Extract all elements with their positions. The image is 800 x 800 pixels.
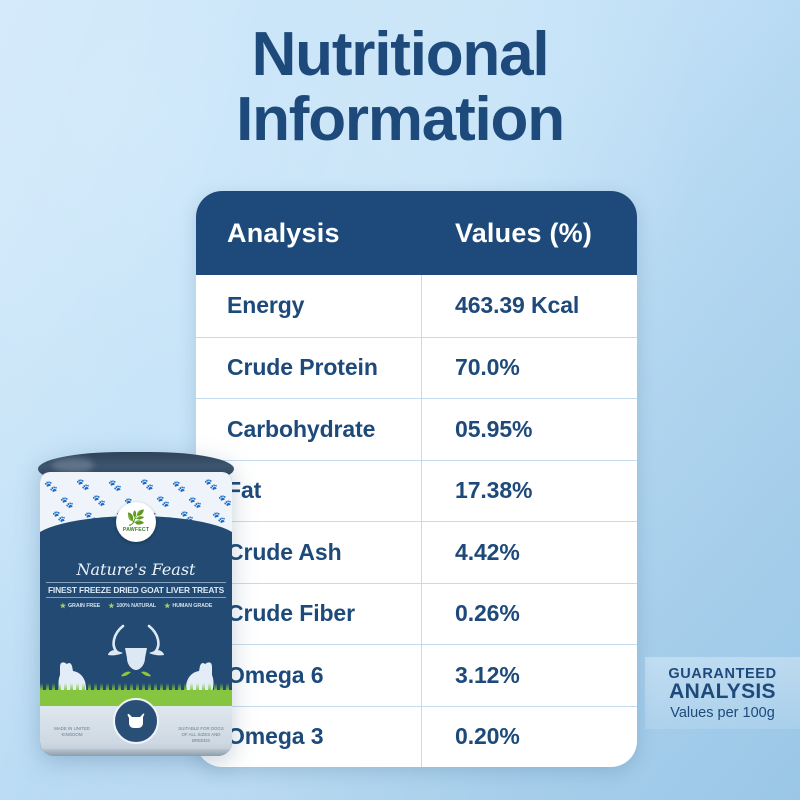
- can-body: 🐾🐾🐾🐾🐾🐾🐾🐾🐾🐾🐾🐾🐾🐾🐾🐾🐾🐾🐾🐾🐾🐾🐾 🌿 PAWFECT Nature…: [40, 472, 232, 756]
- table-row: Omega 63.12%: [196, 644, 637, 706]
- page-title: Nutritional Information: [0, 22, 800, 152]
- paw-print-icon: 🐾: [188, 498, 202, 509]
- cell-value: 0.26%: [421, 600, 637, 627]
- claim-badge: ★100% NATURAL: [108, 602, 156, 610]
- cell-value: 463.39 Kcal: [421, 292, 637, 319]
- paw-print-icon: 🐾: [156, 497, 170, 508]
- goat-head-icon: [101, 622, 171, 683]
- claim-label: HUMAN GRADE: [172, 603, 212, 609]
- table-header-row: Analysis Values (%): [196, 191, 637, 275]
- nutrition-table: Analysis Values (%) Energy463.39 KcalCru…: [196, 191, 637, 767]
- cell-analysis: Carbohydrate: [196, 416, 421, 443]
- logo-text: PAWFECT: [123, 527, 149, 533]
- leaf-icon: 🌿: [127, 511, 146, 526]
- paw-print-icon: 🐾: [60, 498, 74, 509]
- column-header-values: Values (%): [421, 218, 637, 249]
- claim-icon: ★: [164, 602, 170, 610]
- goat-seal: [113, 698, 159, 744]
- paw-print-icon: 🐾: [212, 513, 226, 524]
- paw-print-icon: 🐾: [204, 480, 218, 491]
- paw-print-icon: 🐾: [218, 496, 232, 507]
- badge-line-analysis: ANALYSIS: [669, 680, 776, 704]
- claim-badge: ★GRAIN FREE: [60, 602, 100, 610]
- cell-value: 0.20%: [421, 723, 637, 750]
- table-body: Energy463.39 KcalCrude Protein70.0%Carbo…: [196, 275, 637, 767]
- cell-value: 17.38%: [421, 477, 637, 504]
- lid-highlight: [52, 457, 94, 473]
- claim-label: 100% NATURAL: [116, 603, 156, 609]
- cell-value: 70.0%: [421, 354, 637, 381]
- table-row: Carbohydrate05.95%: [196, 398, 637, 460]
- product-can-image: 🐾🐾🐾🐾🐾🐾🐾🐾🐾🐾🐾🐾🐾🐾🐾🐾🐾🐾🐾🐾🐾🐾🐾 🌿 PAWFECT Nature…: [38, 452, 234, 762]
- title-line-1: Nutritional: [252, 20, 549, 89]
- pawfect-logo: 🌿 PAWFECT: [116, 502, 156, 542]
- paw-print-icon: 🐾: [172, 482, 186, 493]
- paw-print-icon: 🐾: [140, 480, 154, 491]
- claim-label: GRAIN FREE: [68, 603, 100, 609]
- brand-name: Nature's Feast: [40, 560, 232, 579]
- table-row: Omega 30.20%: [196, 706, 637, 768]
- claim-badge: ★HUMAN GRADE: [164, 602, 212, 610]
- cell-value: 4.42%: [421, 539, 637, 566]
- table-row: Crude Protein70.0%: [196, 337, 637, 399]
- can-bottom-rim: [42, 749, 230, 756]
- can-side-text-right: SUITABLE FOR DOGS OF ALL SIZES AND BREED…: [178, 726, 224, 744]
- column-header-analysis: Analysis: [196, 218, 421, 249]
- table-row: Crude Fiber0.26%: [196, 583, 637, 645]
- can-side-text-left: MADE IN UNITED KINGDOM: [50, 726, 94, 738]
- paw-print-icon: 🐾: [92, 496, 106, 507]
- title-line-2: Information: [0, 87, 800, 152]
- table-row: Energy463.39 Kcal: [196, 275, 637, 337]
- guaranteed-analysis-badge: GUARANTEED ANALYSIS Values per 100g: [645, 657, 800, 729]
- claim-badges: ★GRAIN FREE★100% NATURAL★HUMAN GRADE: [40, 602, 232, 610]
- table-row: Crude Ash4.42%: [196, 521, 637, 583]
- cell-value: 3.12%: [421, 662, 637, 689]
- cell-analysis: Crude Protein: [196, 354, 421, 381]
- cell-analysis: Energy: [196, 292, 421, 319]
- paw-print-icon: 🐾: [108, 481, 122, 492]
- product-subtitle: FINEST FREEZE DRIED GOAT LIVER TREATS: [46, 582, 226, 598]
- badge-line-values-per: Values per 100g: [670, 705, 775, 721]
- cell-value: 05.95%: [421, 416, 637, 443]
- paw-print-icon: 🐾: [44, 482, 58, 493]
- claim-icon: ★: [60, 602, 66, 610]
- claim-icon: ★: [108, 602, 114, 610]
- infographic-canvas: Nutritional Information Analysis Values …: [0, 0, 800, 800]
- paw-print-icon: 🐾: [52, 512, 66, 523]
- table-row: Fat17.38%: [196, 460, 637, 522]
- paw-print-icon: 🐾: [76, 480, 90, 491]
